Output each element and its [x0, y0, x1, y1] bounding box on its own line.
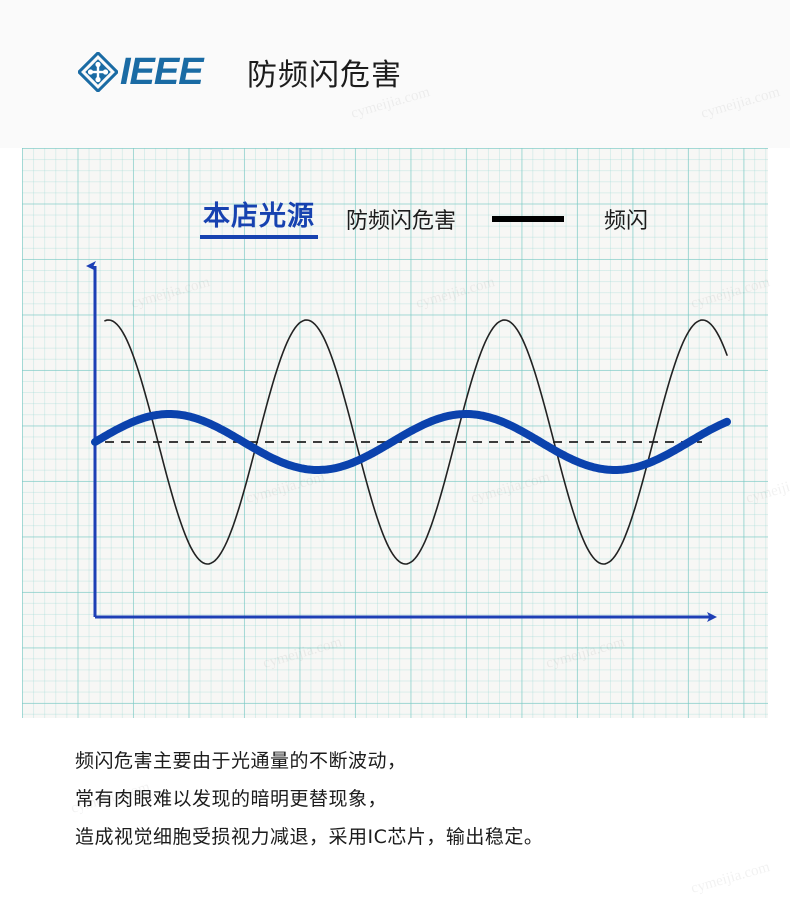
chart-panel: 本店光源 防频闪危害 频闪 时间 频闪示意图: [22, 148, 768, 718]
flicker-chart: [22, 148, 768, 718]
description-line: 常有肉眼难以发现的暗明更替现象，: [75, 780, 735, 818]
description-line: 频闪危害主要由于光通量的不断波动，: [75, 742, 735, 780]
page-header: IEEE 防频闪危害: [0, 0, 790, 148]
watermark-text: cymeijia.com: [689, 859, 772, 898]
ieee-wordmark: IEEE: [120, 53, 203, 91]
ieee-logo: IEEE: [78, 52, 203, 92]
page-title: 防频闪危害: [247, 50, 402, 94]
description-block: 频闪危害主要由于光通量的不断波动， 常有肉眼难以发现的暗明更替现象， 造成视觉细…: [75, 742, 735, 856]
ieee-diamond-icon: [78, 52, 118, 92]
description-line: 造成视觉细胞受损视力减退，采用IC芯片，输出稳定。: [75, 818, 735, 856]
